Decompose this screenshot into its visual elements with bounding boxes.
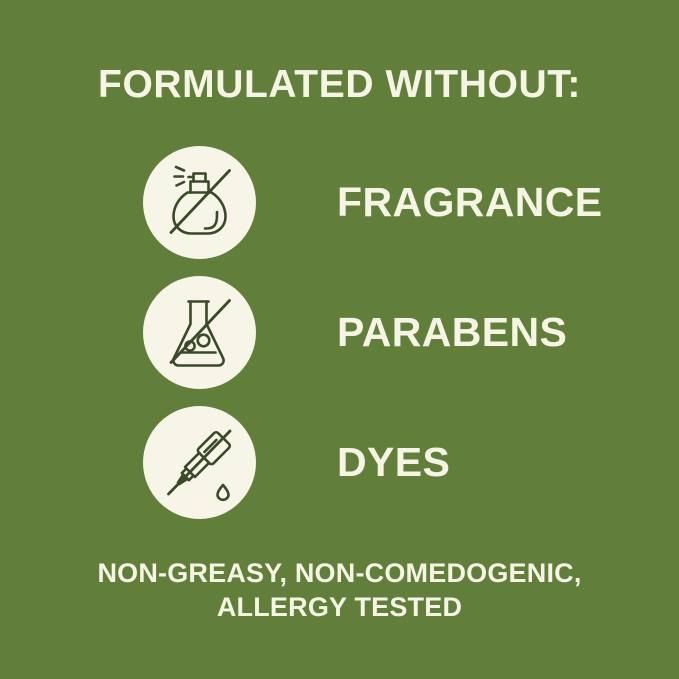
list-item: PARABENS — [0, 276, 679, 406]
list-item: DYES — [0, 406, 679, 536]
claims-list: FRAGRANCE PARABENS — [0, 146, 679, 536]
no-perfume-bottle-icon — [143, 146, 256, 259]
footer-claims: NON-GREASY, NON-COMEDOGENIC, ALLERGY TES… — [0, 556, 679, 624]
no-dropper-icon — [143, 406, 256, 519]
footer-line-1: NON-GREASY, NON-COMEDOGENIC, — [0, 556, 679, 590]
list-item-label: PARABENS — [337, 276, 567, 389]
page-title: FORMULATED WITHOUT: — [0, 62, 679, 108]
no-flask-icon — [143, 276, 256, 389]
list-item-label: DYES — [337, 406, 450, 519]
formulated-without-panel: FORMULATED WITHOUT: — [0, 0, 679, 679]
list-item-label: FRAGRANCE — [337, 146, 603, 259]
footer-line-2: ALLERGY TESTED — [0, 590, 679, 624]
list-item: FRAGRANCE — [0, 146, 679, 276]
